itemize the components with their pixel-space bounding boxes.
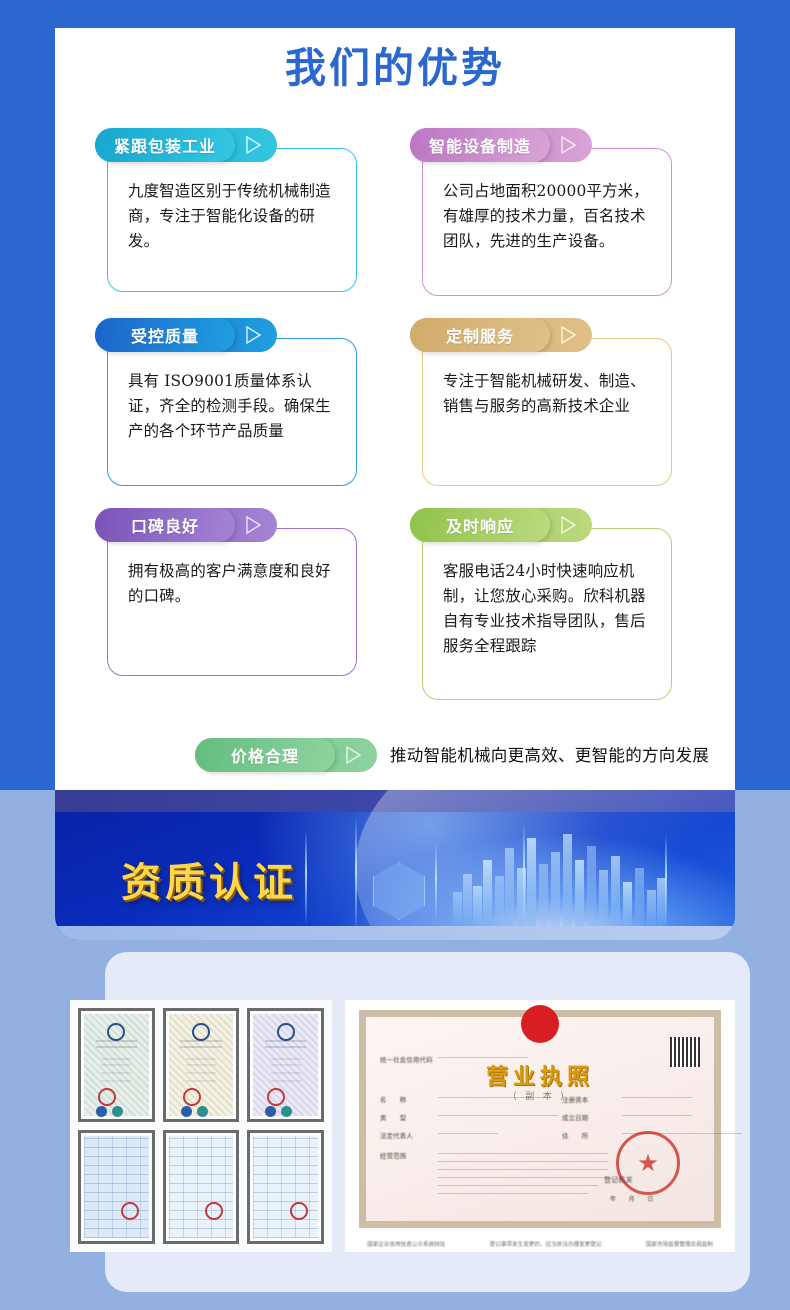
skyline-building	[623, 882, 632, 926]
cert-text-line	[271, 1072, 301, 1074]
skyline-building	[495, 876, 504, 926]
advantage-card-body: 专注于智能机械研发、制造、销售与服务的高新技术企业	[422, 338, 672, 486]
advantage-3-pill-label: 受控质量	[95, 318, 235, 352]
cert-text-line	[265, 1040, 306, 1042]
license-date-label: 年 月 日	[610, 1194, 653, 1203]
certificate-thumbnails	[78, 1008, 324, 1244]
page-title: 我们的优势	[55, 44, 735, 93]
license-field-label: 类 型	[380, 1113, 406, 1122]
qr-code-icon	[670, 1037, 700, 1067]
advantage-card-body: 具有 ISO9001质量体系认证，齐全的检测手段。确保生产的各个环节产品质量	[107, 338, 357, 486]
cert-text-line	[101, 1072, 131, 1074]
skyline-building	[599, 870, 608, 926]
cert-text-line	[271, 1064, 301, 1066]
license-value-line	[622, 1133, 742, 1134]
advantage-card-grid: 九度智造区别于传统机械制造商，专注于智能化设备的研发。紧跟包装工业公司占地面积2…	[95, 128, 695, 698]
play-triangle-icon	[560, 515, 576, 535]
license-value-line	[438, 1153, 608, 1154]
license-title: 营业执照	[486, 1059, 594, 1091]
cert-logo-icon	[277, 1023, 295, 1041]
advantage-card-body: 公司占地面积20000平方米，有雄厚的技术力量，百名技术团队，先进的生产设备。	[422, 148, 672, 296]
license-value-line	[438, 1133, 498, 1134]
advantages-panel: 我们的优势 九度智造区别于传统机械制造商，专注于智能化设备的研发。紧跟包装工业公…	[55, 28, 735, 790]
license-field-label: 成立日期	[562, 1113, 588, 1122]
advantage-card-text: 专注于智能机械研发、制造、销售与服务的高新技术企业	[423, 339, 671, 431]
skyline-building	[657, 878, 666, 926]
price-pill-label: 价格合理	[195, 738, 335, 772]
certificate-thumb-iso-certificate-purple[interactable]	[247, 1008, 324, 1122]
advantage-6-pill-label: 及时响应	[410, 508, 550, 542]
cert-text-line	[265, 1046, 306, 1048]
license-value-line	[438, 1177, 608, 1178]
play-triangle-icon	[245, 515, 261, 535]
skyline-building	[551, 852, 560, 926]
cert-seal-icon	[205, 1202, 223, 1220]
cert-text-line	[101, 1058, 131, 1060]
cert-seal-icon	[121, 1202, 139, 1220]
play-triangle-icon	[245, 325, 261, 345]
play-triangle-icon	[345, 745, 361, 765]
qualification-banner: 资质认证	[55, 790, 735, 940]
license-value-line	[622, 1115, 692, 1116]
certificate-thumb-image	[253, 1014, 318, 1116]
banner-title: 资质认证	[121, 850, 297, 908]
license-field-label: 法定代表人	[380, 1131, 413, 1140]
skyline-building	[483, 860, 492, 926]
license-value-line	[438, 1097, 548, 1098]
license-field-label: 住 所	[562, 1131, 588, 1140]
license-value-line	[622, 1097, 692, 1098]
license-footer-note-3: 国家市场监督管理总局监制	[646, 1240, 713, 1248]
skyline-building	[505, 848, 514, 926]
license-footer-note-1: 国家企业信用信息公示系统网址	[367, 1240, 445, 1248]
cert-seal-icon	[267, 1088, 285, 1106]
certificate-thumb-image	[84, 1136, 149, 1238]
certificate-thumb-inspection-report-2[interactable]	[247, 1130, 324, 1244]
advantage-row: 拥有极高的客户满意度和良好的口碑。口碑良好客服电话24小时快速响应机制，让您放心…	[95, 508, 695, 698]
advantage-1-pill-label: 紧跟包装工业	[95, 128, 235, 162]
cert-text-line	[180, 1046, 221, 1048]
cert-seal-icon	[98, 1088, 116, 1106]
cert-text-line	[186, 1080, 216, 1082]
skyline-building	[463, 874, 472, 926]
certificate-thumb-image	[169, 1136, 234, 1238]
cert-seal-icon	[183, 1088, 201, 1106]
certificate-grid-card[interactable]	[70, 1000, 332, 1252]
skyline-building	[527, 838, 536, 926]
play-triangle-icon	[245, 135, 261, 155]
cert-logo-icon	[192, 1023, 210, 1041]
advantage-card-body: 九度智造区别于传统机械制造商，专注于智能化设备的研发。	[107, 148, 357, 292]
business-license-card[interactable]: 营业执照 （ 副 本 ） ★ 统一社会信用代码名 称类 型法定代表人经营范围注册…	[345, 1000, 735, 1252]
national-emblem-icon	[521, 1005, 559, 1043]
cert-text-line	[186, 1064, 216, 1066]
cert-text-line	[101, 1064, 131, 1066]
certificate-thumb-inspection-report-1[interactable]	[163, 1130, 240, 1244]
certificate-thumb-iso-certificate-gold[interactable]	[163, 1008, 240, 1122]
advantage-row: 九度智造区别于传统机械制造商，专注于智能化设备的研发。紧跟包装工业公司占地面积2…	[95, 128, 695, 318]
license-value-line	[438, 1161, 608, 1162]
skyline-building	[517, 868, 526, 926]
skyline-building	[611, 856, 620, 926]
advantage-card-body: 拥有极高的客户满意度和良好的口碑。	[107, 528, 357, 676]
skyline-building	[539, 864, 548, 926]
advantage-row: 具有 ISO9001质量体系认证，齐全的检测手段。确保生产的各个环节产品质量受控…	[95, 318, 695, 508]
cert-badge-icon	[265, 1106, 276, 1117]
cert-badge-icon	[96, 1106, 107, 1117]
skyline-building	[575, 860, 584, 926]
cert-text-line	[271, 1058, 301, 1060]
advantage-card-text: 具有 ISO9001质量体系认证，齐全的检测手段。确保生产的各个环节产品质量	[108, 339, 356, 456]
certificate-thumb-image	[253, 1136, 318, 1238]
license-field-label: 统一社会信用代码	[380, 1055, 433, 1064]
advantage-4-pill-label: 定制服务	[410, 318, 550, 352]
cert-badge-icon	[112, 1106, 123, 1117]
license-value-line	[438, 1185, 598, 1186]
license-field-label: 名 称	[380, 1095, 406, 1104]
advantage-5-pill-label: 口碑良好	[95, 508, 235, 542]
cert-text-line	[96, 1046, 137, 1048]
skyline-building	[473, 886, 482, 926]
advantage-card-text: 公司占地面积20000平方米，有雄厚的技术力量，百名技术团队，先进的生产设备。	[423, 149, 671, 266]
skyline-building	[635, 868, 644, 926]
cert-text-line	[271, 1080, 301, 1082]
price-footer-row: 价格合理推动智能机械向更高效、更智能的方向发展	[195, 738, 755, 774]
license-value-line	[438, 1193, 588, 1194]
city-skyline-graphic	[453, 834, 673, 926]
license-field-label: 注册资本	[562, 1095, 588, 1104]
advantage-card-text: 九度智造区别于传统机械制造商，专注于智能化设备的研发。	[108, 149, 356, 266]
banner-bottom-edge	[55, 926, 735, 940]
play-triangle-icon	[560, 325, 576, 345]
license-value-line	[438, 1057, 528, 1058]
certificate-thumb-image	[84, 1014, 149, 1116]
advantage-card-body: 客服电话24小时快速响应机制，让您放心采购。欣科机器自有专业技术指导团队，售后服…	[422, 528, 672, 700]
cert-badge-icon	[281, 1106, 292, 1117]
cert-text-line	[96, 1040, 137, 1042]
cert-logo-icon	[107, 1023, 125, 1041]
license-value-line	[438, 1169, 608, 1170]
cert-badge-icon	[181, 1106, 192, 1117]
license-footer-note-2: 登记事项发生变更的，应当依法办理变更登记	[490, 1240, 602, 1248]
skyline-building	[587, 846, 596, 926]
certificate-thumb-patent-certificate-blue[interactable]	[78, 1130, 155, 1244]
license-value-line	[438, 1115, 558, 1116]
certificate-thumb-iso-certificate-green[interactable]	[78, 1008, 155, 1122]
skyline-building	[647, 890, 656, 926]
certificate-thumb-image	[169, 1014, 234, 1116]
advantage-card-text: 客服电话24小时快速响应机制，让您放心采购。欣科机器自有专业技术指导团队，售后服…	[423, 529, 671, 671]
advantage-2-pill-label: 智能设备制造	[410, 128, 550, 162]
light-beam-2	[355, 816, 357, 934]
business-license-image: 营业执照 （ 副 本 ） ★ 统一社会信用代码名 称类 型法定代表人经营范围注册…	[359, 1010, 721, 1228]
price-row-text: 推动智能机械向更高效、更智能的方向发展	[390, 742, 709, 766]
cert-text-line	[180, 1040, 221, 1042]
skyline-building	[563, 834, 572, 926]
registrar-label: 登记机关	[604, 1175, 633, 1185]
play-triangle-icon	[560, 135, 576, 155]
cert-badge-icon	[197, 1106, 208, 1117]
light-beam-3	[435, 842, 437, 922]
light-beam-1	[305, 830, 307, 926]
skyline-building	[453, 892, 462, 926]
license-footer-notes: 国家企业信用信息公示系统网址 登记事项发生变更的，应当依法办理变更登记 国家市场…	[345, 1240, 735, 1248]
cert-text-line	[186, 1058, 216, 1060]
cert-text-line	[186, 1072, 216, 1074]
red-seal-stamp: ★	[616, 1131, 680, 1195]
advantage-card-text: 拥有极高的客户满意度和良好的口碑。	[108, 529, 356, 621]
cert-text-line	[101, 1080, 131, 1082]
license-field-label: 经营范围	[380, 1151, 406, 1160]
cert-seal-icon	[290, 1202, 308, 1220]
